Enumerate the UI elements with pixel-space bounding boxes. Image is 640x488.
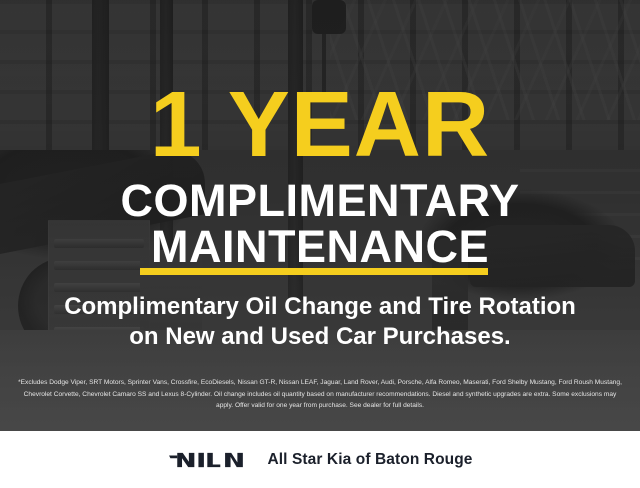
hero-content: 1 YEAR COMPLIMENTARY MAINTENANCE Complim… bbox=[0, 0, 640, 431]
kia-logo bbox=[167, 450, 249, 470]
yellow-divider-rule bbox=[140, 268, 488, 275]
disclaimer-text: *Excludes Dodge Viper, SRT Motors, Sprin… bbox=[16, 377, 624, 412]
headline-maintenance: MAINTENANCE bbox=[0, 224, 640, 269]
promotional-banner: 1 YEAR COMPLIMENTARY MAINTENANCE Complim… bbox=[0, 0, 640, 488]
offer-description-line-1: Complimentary Oil Change and Tire Rotati… bbox=[0, 294, 640, 320]
footer-bar: All Star Kia of Baton Rouge bbox=[0, 431, 640, 488]
dealer-name: All Star Kia of Baton Rouge bbox=[267, 451, 472, 469]
offer-description-line-2: on New and Used Car Purchases. bbox=[0, 324, 640, 350]
headline-year: 1 YEAR bbox=[0, 78, 640, 171]
headline-complimentary: COMPLIMENTARY bbox=[0, 178, 640, 223]
hero-section: 1 YEAR COMPLIMENTARY MAINTENANCE Complim… bbox=[0, 0, 640, 431]
footer-brand-group: All Star Kia of Baton Rouge bbox=[167, 450, 472, 470]
